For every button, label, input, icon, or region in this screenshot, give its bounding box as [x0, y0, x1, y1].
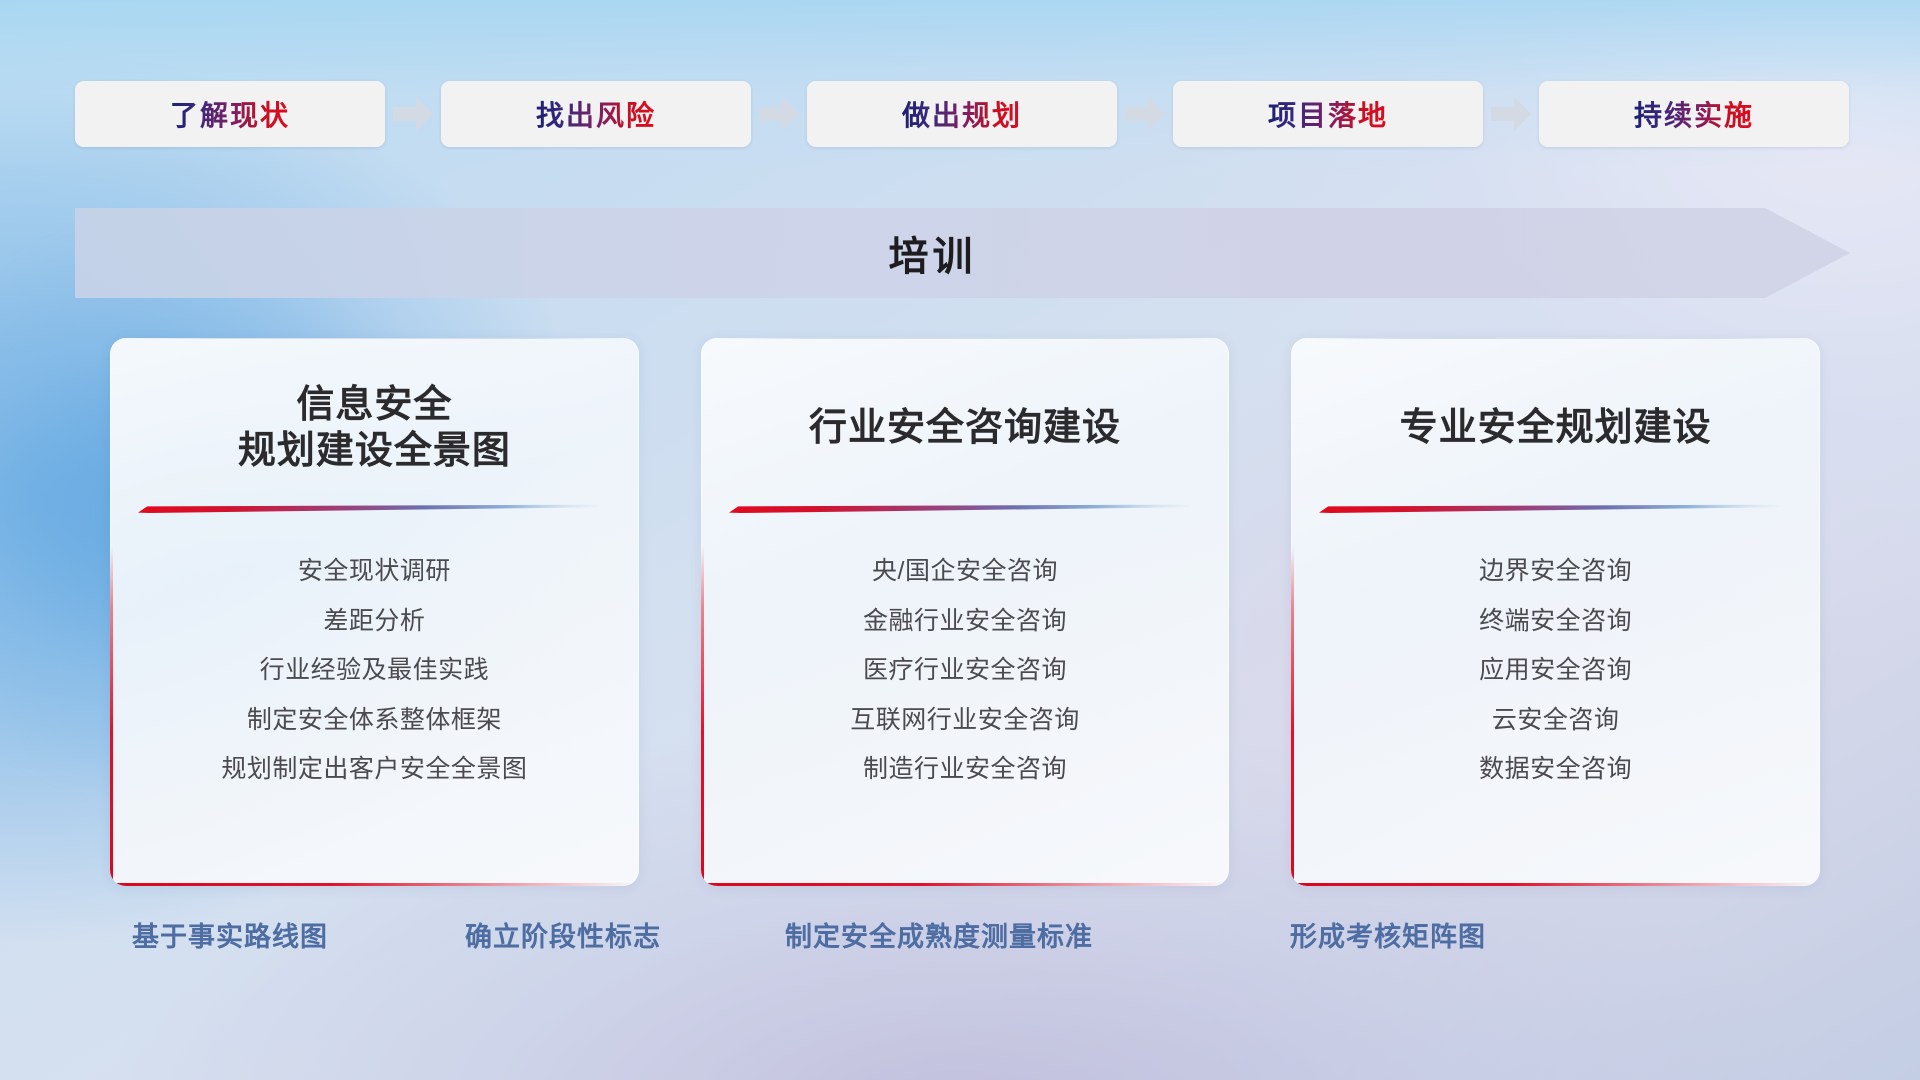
arrow-right-icon	[1117, 94, 1173, 134]
card-item: 差距分析	[134, 603, 615, 641]
card-item-list: 边界安全咨询终端安全咨询应用安全咨询云安全咨询数据安全咨询	[1291, 553, 1820, 813]
card-item: 金融行业安全咨询	[725, 603, 1206, 641]
process-step-1[interactable]: 了解现状	[75, 81, 385, 147]
card-item: 制造行业安全咨询	[725, 751, 1206, 789]
card-item: 应用安全咨询	[1315, 652, 1796, 690]
card-item: 央/国企安全咨询	[725, 553, 1206, 591]
card-title-line: 行业安全咨询建设	[723, 405, 1208, 451]
card-item-list: 央/国企安全咨询金融行业安全咨询医疗行业安全咨询互联网行业安全咨询制造行业安全咨…	[701, 553, 1230, 813]
footnote-row: 基于事实路线图确立阶段性标志制定安全成熟度测量标准形成考核矩阵图	[0, 915, 1920, 963]
process-step-label: 了解现状	[170, 94, 290, 134]
footnote-label-3: 制定安全成熟度测量标准	[785, 915, 1093, 954]
card-accent-divider	[1319, 504, 1780, 513]
footnote-label-2: 确立阶段性标志	[465, 915, 661, 954]
training-banner-label: 培训	[75, 208, 1790, 298]
card-item: 终端安全咨询	[1315, 603, 1796, 641]
process-step-label: 项目落地	[1268, 94, 1388, 134]
process-step-label: 找出风险	[536, 94, 656, 134]
process-step-label: 做出规划	[902, 94, 1022, 134]
card-item: 行业经验及最佳实践	[134, 652, 615, 690]
footnote-label-4: 形成考核矩阵图	[1290, 915, 1486, 954]
card-item: 边界安全咨询	[1315, 553, 1796, 591]
process-step-row: 了解现状找出风险做出规划项目落地持续实施	[75, 80, 1850, 148]
card-item: 制定安全体系整体框架	[134, 702, 615, 740]
arrow-right-icon	[1483, 94, 1539, 134]
pillar-card-3[interactable]: 专业安全规划建设边界安全咨询终端安全咨询应用安全咨询云安全咨询数据安全咨询	[1291, 338, 1820, 886]
footnote-label-1: 基于事实路线图	[132, 915, 328, 954]
card-left-red-rail	[1291, 546, 1294, 886]
card-title-line: 规划建设全景图	[132, 428, 617, 474]
card-item: 云安全咨询	[1315, 702, 1796, 740]
process-step-4[interactable]: 项目落地	[1173, 81, 1483, 147]
training-banner: 培训	[75, 208, 1850, 298]
pillar-card-2[interactable]: 行业安全咨询建设央/国企安全咨询金融行业安全咨询医疗行业安全咨询互联网行业安全咨…	[701, 338, 1230, 886]
process-step-3[interactable]: 做出规划	[807, 81, 1117, 147]
card-item: 互联网行业安全咨询	[725, 702, 1206, 740]
card-item: 数据安全咨询	[1315, 751, 1796, 789]
pillar-cards-row: 信息安全规划建设全景图安全现状调研差距分析行业经验及最佳实践制定安全体系整体框架…	[110, 338, 1820, 886]
process-step-label: 持续实施	[1634, 94, 1754, 134]
card-top-highlight	[1291, 338, 1820, 339]
card-bottom-red-rail	[701, 883, 1230, 886]
card-accent-divider	[138, 504, 599, 513]
card-title: 专业安全规划建设	[1291, 380, 1820, 476]
card-accent-divider	[729, 504, 1190, 513]
card-item-list: 安全现状调研差距分析行业经验及最佳实践制定安全体系整体框架规划制定出客户安全全景…	[110, 553, 639, 813]
pillar-card-1[interactable]: 信息安全规划建设全景图安全现状调研差距分析行业经验及最佳实践制定安全体系整体框架…	[110, 338, 639, 886]
arrow-right-icon	[385, 94, 441, 134]
arrow-right-icon	[751, 94, 807, 134]
card-top-highlight	[701, 338, 1230, 339]
slide-stage: 了解现状找出风险做出规划项目落地持续实施 培训 信息安全规划建设全景图安全现状调…	[0, 0, 1920, 1080]
card-title: 行业安全咨询建设	[701, 380, 1230, 476]
card-title-line: 信息安全	[132, 382, 617, 428]
card-bottom-red-rail	[110, 883, 639, 886]
card-title: 信息安全规划建设全景图	[110, 380, 639, 476]
card-left-red-rail	[701, 546, 704, 886]
process-step-2[interactable]: 找出风险	[441, 81, 751, 147]
card-bottom-red-rail	[1291, 883, 1820, 886]
card-top-highlight	[110, 338, 639, 339]
card-title-line: 专业安全规划建设	[1313, 405, 1798, 451]
card-item: 医疗行业安全咨询	[725, 652, 1206, 690]
card-item: 安全现状调研	[134, 553, 615, 591]
process-step-5[interactable]: 持续实施	[1539, 81, 1849, 147]
card-item: 规划制定出客户安全全景图	[134, 751, 615, 789]
card-left-red-rail	[110, 546, 113, 886]
